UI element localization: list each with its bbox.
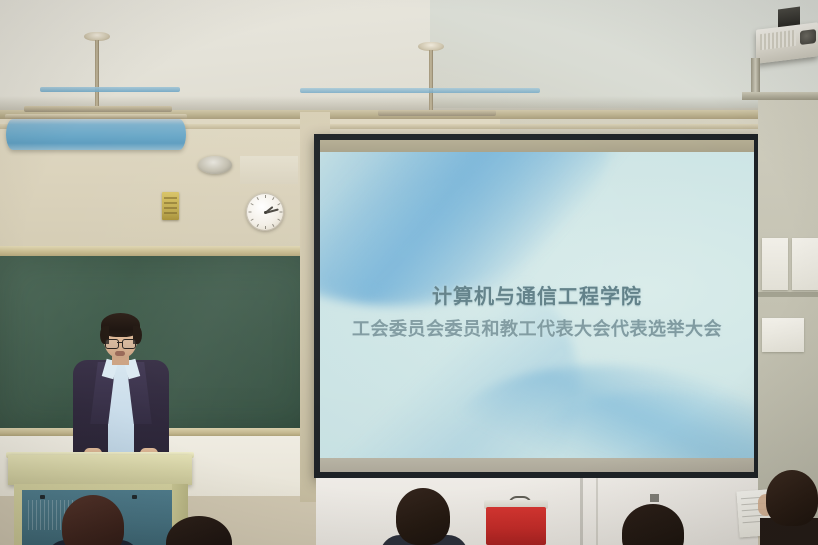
classroom-photo-scene: 计算机与通信工程学院 工会委员会委员和教工代表大会代表选举大会 bbox=[0, 0, 818, 545]
projector-shelf bbox=[742, 92, 818, 100]
right-wall-panel-1 bbox=[762, 238, 788, 290]
ceiling-mount-rod-left bbox=[95, 40, 99, 110]
lamp-rail-upper-right bbox=[300, 88, 540, 93]
right-wall bbox=[758, 100, 818, 520]
wall-seam-1 bbox=[580, 478, 583, 545]
podium-knob-right bbox=[132, 495, 137, 499]
fluorescent-lamp-left bbox=[6, 119, 186, 150]
projection-screen: 计算机与通信工程学院 工会委员会委员和教工代表大会代表选举大会 bbox=[320, 140, 754, 472]
yellow-wall-box bbox=[162, 192, 179, 220]
right-wall-panel-2 bbox=[792, 238, 818, 290]
lamp-rail-upper-left bbox=[40, 87, 180, 92]
slide-title: 计算机与通信工程学院 bbox=[320, 280, 754, 309]
podium-knob-left bbox=[40, 495, 45, 499]
right-wall-divider bbox=[758, 292, 818, 297]
wall-clock bbox=[246, 193, 284, 231]
slide-text-block: 计算机与通信工程学院 工会委员会委员和教工代表大会代表选举大会 bbox=[320, 280, 754, 341]
audience-member-3 bbox=[396, 488, 450, 545]
projector-support-arm bbox=[751, 58, 760, 96]
screen-bottom-band bbox=[320, 458, 754, 472]
right-wall-panel-3 bbox=[762, 318, 804, 352]
presentation-slide: 计算机与通信工程学院 工会委员会委员和教工代表大会代表选举大会 bbox=[320, 152, 754, 458]
screen-top-band bbox=[320, 140, 754, 152]
lamp-bar-left bbox=[24, 106, 172, 112]
red-bag bbox=[486, 507, 546, 545]
lamp-bar-right bbox=[378, 110, 496, 116]
wall-notice-paper bbox=[240, 156, 298, 184]
presenter-mouth bbox=[115, 351, 125, 356]
wall-seam-2 bbox=[596, 478, 598, 545]
ceiling-mount-rod-right bbox=[429, 50, 433, 110]
podium-top bbox=[8, 455, 192, 485]
glasses-lens-left bbox=[105, 339, 119, 349]
audience-member-5 bbox=[766, 470, 818, 526]
clock-center-pin bbox=[264, 211, 267, 214]
projector-lens-icon bbox=[800, 29, 816, 45]
wall-speaker-icon bbox=[198, 156, 232, 174]
wall-switch-plate bbox=[650, 494, 659, 502]
slide-subtitle: 工会委员会委员和教工代表大会代表选举大会 bbox=[320, 315, 754, 341]
glasses-bridge bbox=[117, 342, 122, 343]
glasses-lens-right bbox=[122, 339, 136, 349]
